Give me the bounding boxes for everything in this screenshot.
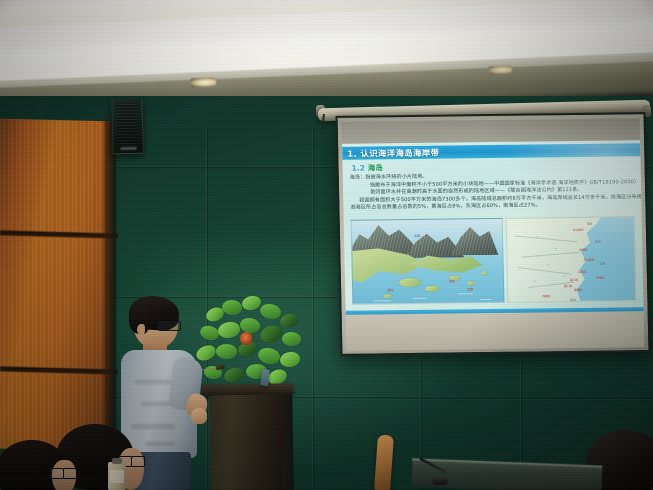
map-label: 平潭岛 <box>578 270 586 274</box>
slide-subtitle: 1.2 海岛 <box>351 162 383 173</box>
presentation-slide: 1. 认识海洋海岛海岸带 1.2 海岛 海岛：指被海水环绕的小片陆地。 指散布于… <box>342 140 644 316</box>
presenter-ear <box>137 324 145 335</box>
recessed-downlight-icon <box>190 78 216 88</box>
map-label: 厦门岛 <box>564 284 572 288</box>
tablet-display[interactable] <box>260 369 270 386</box>
slide-subtitle-number: 1.2 <box>351 164 365 173</box>
figure-label: 海岛 <box>449 279 455 283</box>
map-label: 渤海 <box>587 222 592 226</box>
presenter-hand <box>191 408 207 424</box>
glasses-icon <box>158 320 180 330</box>
map-label: 海南岛 <box>542 294 550 298</box>
map-label: 金门岛 <box>570 278 578 282</box>
slide-body-text: 海岛：指被海水环绕的小片陆地。 指散布于海洋中面积不小于500平方米的小块陆地—… <box>350 171 635 212</box>
slide-subtitle-text: 海岛 <box>365 163 383 172</box>
recessed-downlight-icon <box>488 66 512 75</box>
wood-wall-panel <box>0 119 113 452</box>
coastal-landscape-illustration: 大陆 海岛 岛礁 海湾 <box>351 218 505 305</box>
projection-screen: 1. 认识海洋海岛海岸带 1.2 海岛 海岛：指被海水环绕的小片陆地。 指散布于… <box>335 112 650 356</box>
wall-speaker-icon <box>111 99 143 155</box>
map-label: 长山群岛 <box>573 228 584 232</box>
water-bottle[interactable] <box>108 462 126 490</box>
map-sea-area <box>555 217 635 301</box>
china-coastal-island-map: 长山群岛 崇明岛 舟山群岛 平潭岛 金门岛 厦门岛 南澳岛 海南岛 台湾岛 东海… <box>506 216 637 303</box>
figure-label: 大陆 <box>414 234 420 238</box>
map-label: 舟山群岛 <box>584 258 595 262</box>
slide-body-line: 渤海区所占岛总数量占总数的5%，黄海区占8%，东海区占60%，南海区占27%。 <box>350 202 634 213</box>
slide-figures: 大陆 海岛 岛礁 海湾 <box>351 216 637 304</box>
map-label: 黄海 <box>595 240 600 244</box>
slide-title: 1. 认识海洋海岛海岸带 <box>342 146 439 159</box>
lectern-side <box>280 394 294 490</box>
map-label: 东海 <box>600 262 605 266</box>
lectern[interactable] <box>204 383 292 490</box>
map-label: 南澳岛 <box>574 288 582 292</box>
figure-label: 海湾 <box>387 288 393 292</box>
slide-title-bar: 1. 认识海洋海岛海岸带 <box>342 143 640 160</box>
table-microphone[interactable] <box>418 458 452 488</box>
lectern-body <box>209 394 283 490</box>
map-label: 崇明岛 <box>579 248 587 252</box>
figure-label: 岛礁 <box>467 287 473 291</box>
map-label: 台湾岛 <box>596 276 604 280</box>
flower-icon <box>240 332 252 345</box>
map-label: 南海 <box>570 298 575 302</box>
screen-bottom-margin <box>346 311 645 351</box>
conference-room-scene: 1. 认识海洋海岛海岸带 1.2 海岛 海岛：指被海水环绕的小片陆地。 指散布于… <box>0 0 653 490</box>
